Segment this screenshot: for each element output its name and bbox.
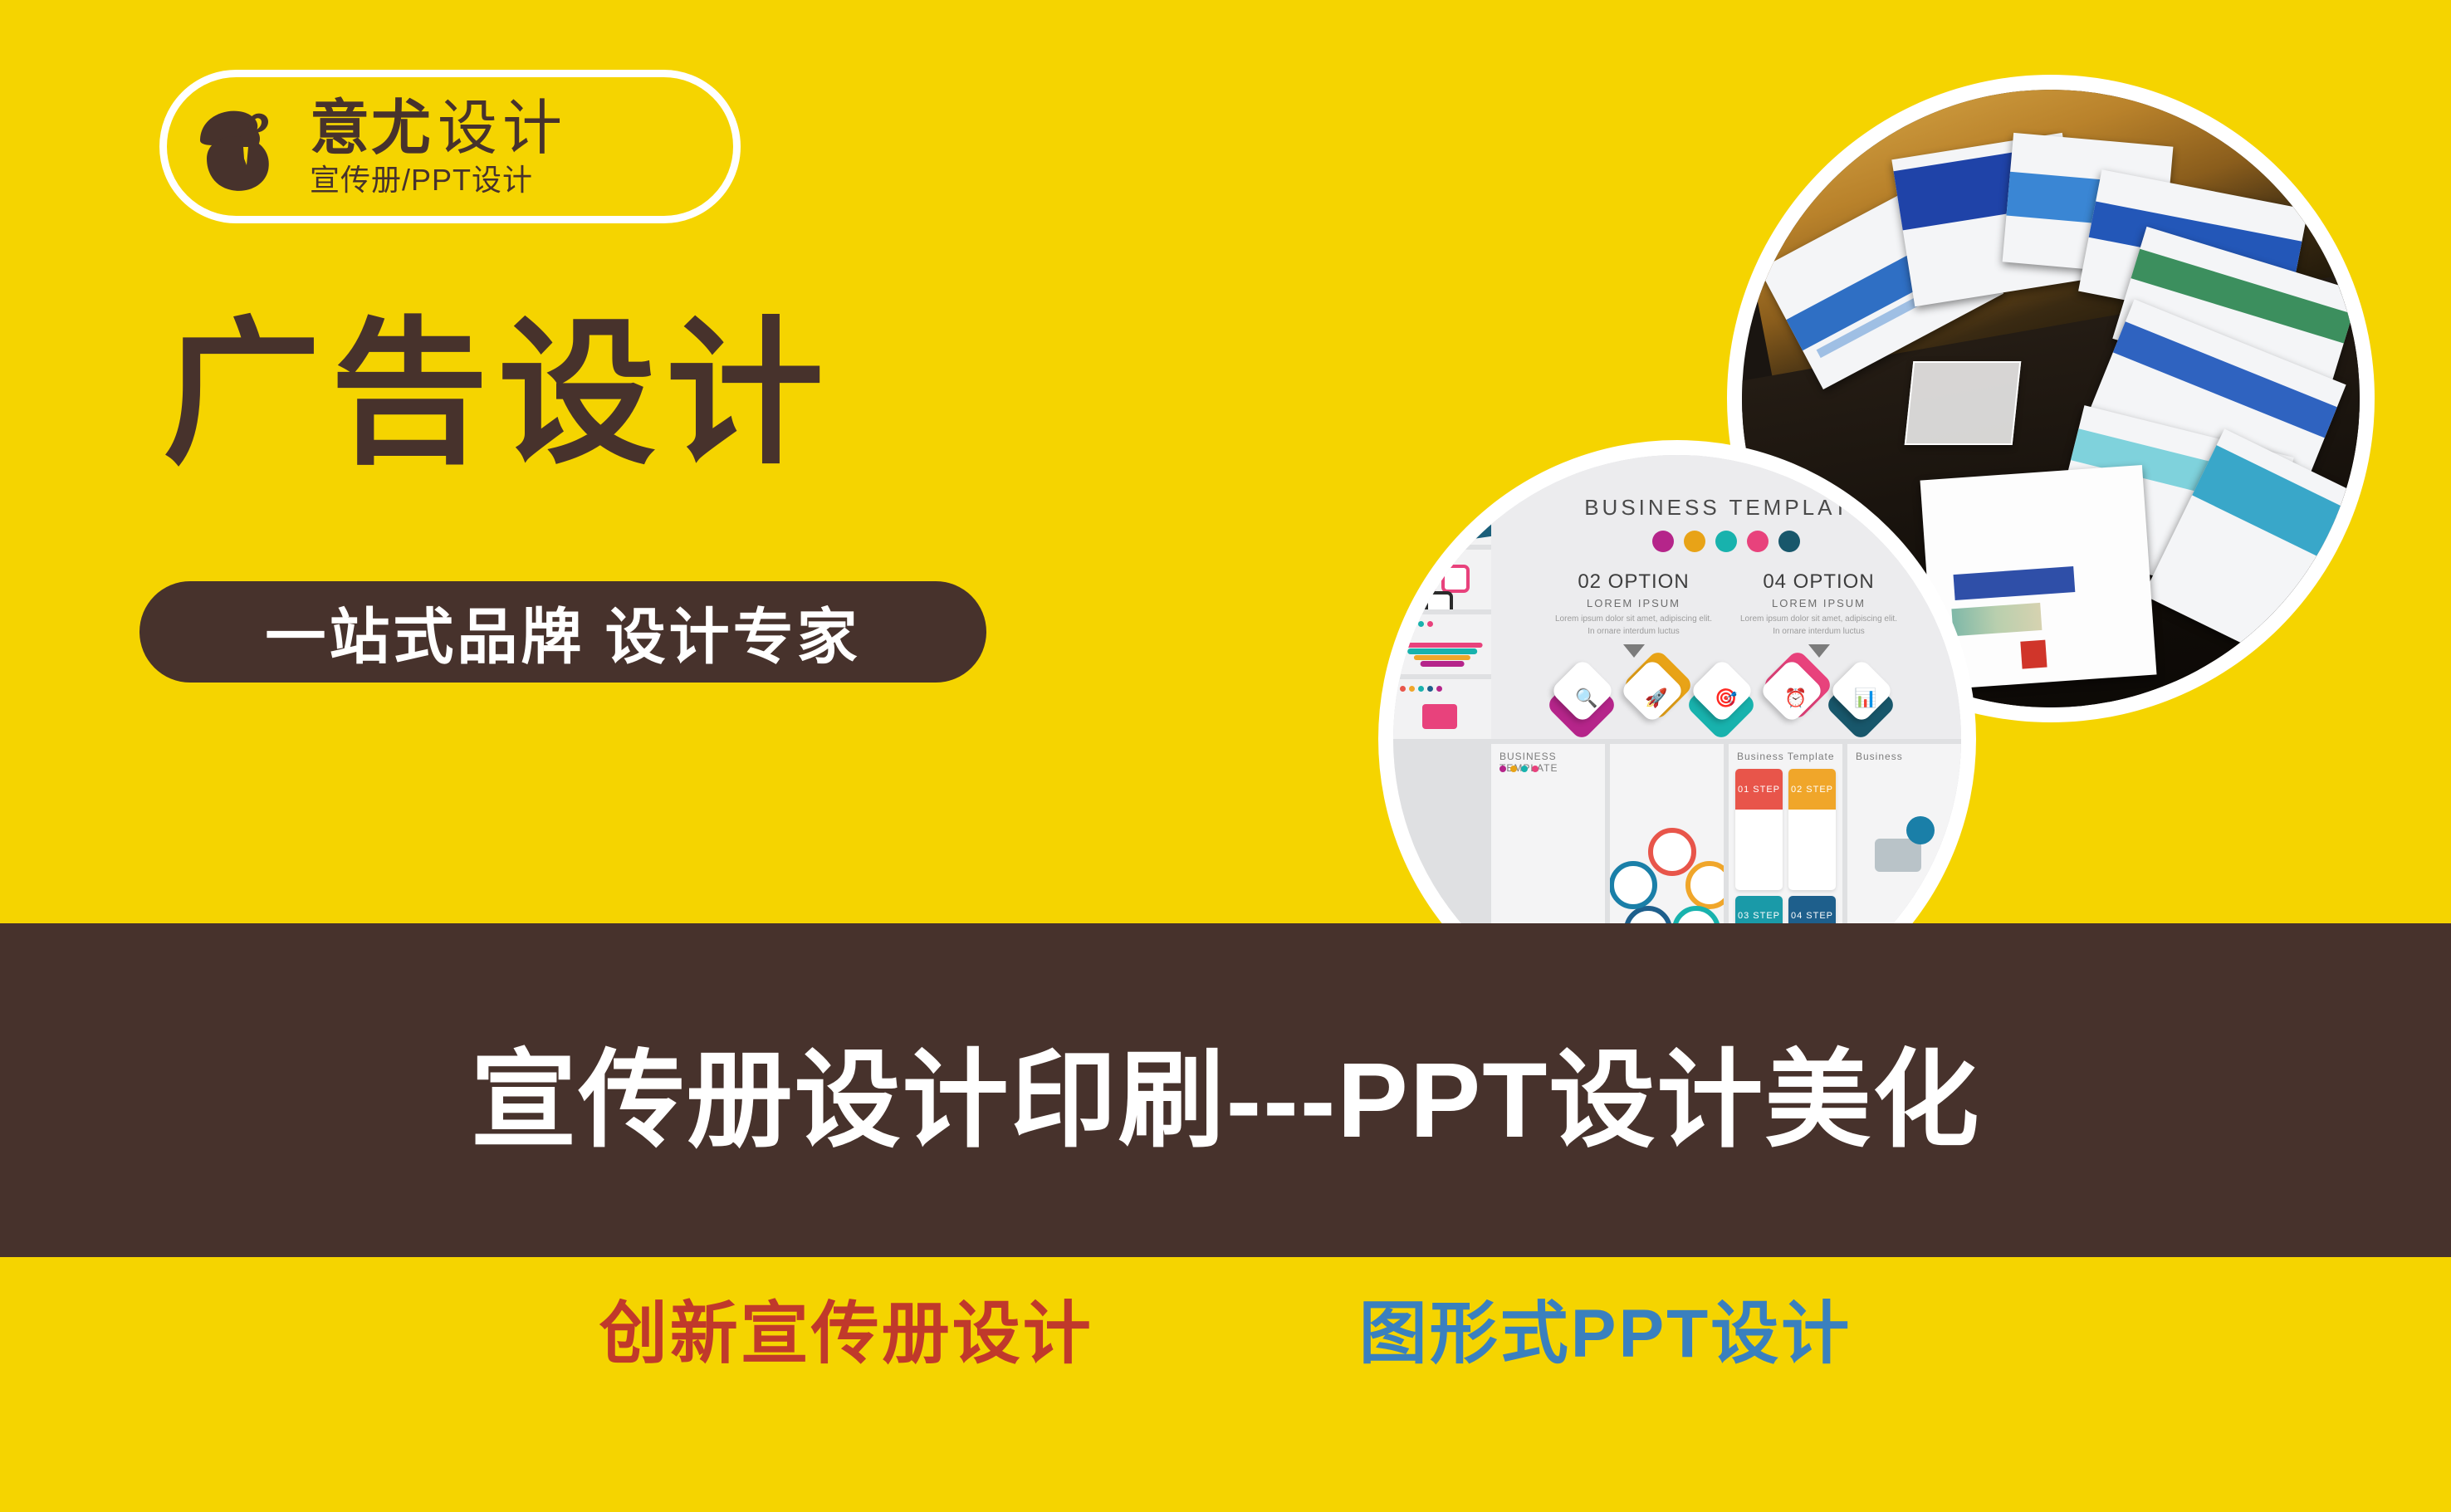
ppt-slide-title: BUSINESS TEMPLATE <box>1491 495 1961 521</box>
ppt-palette-dots <box>1491 531 1961 552</box>
ppt-option: 02 OPTION LOREM IPSUM Lorem ipsum dolor … <box>1551 570 1717 658</box>
ppt-bottom-slide-label: Business Template <box>1737 751 1835 762</box>
ppt-diamond-05: 📊 <box>1833 666 1898 731</box>
ppt-options-top-row: 02 OPTION LOREM IPSUM Lorem ipsum dolor … <box>1491 570 1961 658</box>
mini-slide <box>1393 485 1491 545</box>
alarm-clock-icon: ⏰ <box>1784 687 1807 709</box>
ppt-mini-slide-column <box>1393 455 1491 739</box>
ppt-diamond-01: 🔍 <box>1554 666 1619 731</box>
tagline-pill: 一站式品牌 设计专家 <box>139 581 986 683</box>
brand-name-row: 意尤 设计 <box>310 99 567 159</box>
main-banner: 宣传册设计印刷---PPT设计美化 <box>0 923 2451 1257</box>
ppt-option-body: Lorem ipsum dolor sit amet, adipiscing e… <box>1551 613 1717 638</box>
mini-slide <box>1393 614 1491 674</box>
ppt-step-label: 02 STEP <box>1788 769 1836 810</box>
bottom-tag-row: 创新宣传册设计 图形式PPT设计 <box>0 1257 2451 1512</box>
bottom-tag-ppt: 图形式PPT设计 <box>1359 1300 1852 1368</box>
ppt-diamond-04: ⏰ <box>1764 666 1828 731</box>
rocket-icon: 🚀 <box>1645 687 1667 709</box>
brand-tagline: 宣传册/PPT设计 <box>310 165 567 195</box>
brand-wordmark: 意尤 设计 宣传册/PPT设计 <box>310 99 567 195</box>
page-headline: 广告设计 <box>163 316 834 473</box>
mini-slide <box>1393 679 1491 739</box>
ppt-diamond-02: 🚀 <box>1624 666 1689 731</box>
ppt-option-number: 04 OPTION <box>1736 570 1902 594</box>
bottom-tag-brochure: 创新宣传册设计 <box>599 1300 1093 1368</box>
arrow-down-icon <box>1623 644 1645 658</box>
ppt-option-lorem: LOREM IPSUM <box>1551 597 1717 609</box>
tagline-pill-label: 一站式品牌 设计专家 <box>265 588 860 676</box>
ppt-diamond-row: 🔍 🚀 🎯 ⏰ 📊 <box>1491 666 1961 731</box>
ppt-option: 04 OPTION LOREM IPSUM Lorem ipsum dolor … <box>1736 570 1902 658</box>
brand-name-thin: 设计 <box>438 99 567 159</box>
ppt-option-body: Lorem ipsum dolor sit amet, adipiscing e… <box>1736 613 1902 638</box>
brand-logo: 意尤 设计 宣传册/PPT设计 <box>159 70 741 223</box>
banner-canvas: 意尤 设计 宣传册/PPT设计 广告设计 一站式品牌 设计专家 <box>0 0 2451 1512</box>
business-card-holder <box>1905 361 2022 445</box>
ppt-main-slide: BUSINESS TEMPLATE 02 OPTION LOREM IPSUM … <box>1491 455 1961 739</box>
ppt-step-label: 01 STEP <box>1735 769 1783 810</box>
ppt-step: 01 STEP <box>1735 769 1783 890</box>
seed-bird-mark-icon <box>188 94 295 200</box>
ppt-option-lorem: LOREM IPSUM <box>1736 597 1902 609</box>
main-banner-text: 宣传册设计印刷---PPT设计美化 <box>471 1014 1981 1167</box>
brand-name-bold: 意尤 <box>310 99 433 159</box>
arrow-down-icon <box>1808 644 1830 658</box>
ppt-bottom-slide-label: Business <box>1856 751 1903 762</box>
mini-slide <box>1393 550 1491 609</box>
magnifier-icon: 🔍 <box>1575 687 1597 709</box>
ppt-diamond-03: 🎯 <box>1694 666 1759 731</box>
target-icon: 🎯 <box>1715 687 1737 709</box>
ppt-option-number: 02 OPTION <box>1551 570 1717 594</box>
ppt-step: 02 STEP <box>1788 769 1836 890</box>
presentation-icon: 📊 <box>1854 687 1876 709</box>
